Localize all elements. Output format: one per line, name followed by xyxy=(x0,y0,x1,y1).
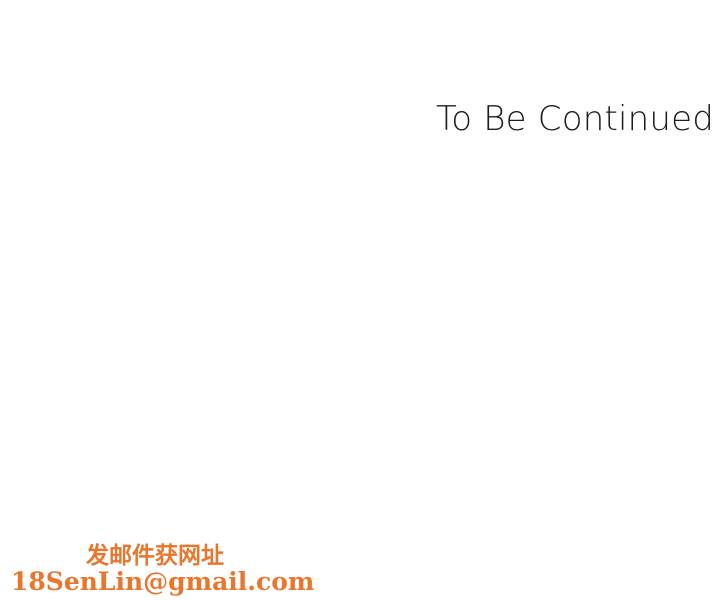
watermark: 发邮件获网址 18SenLin@gmail.com xyxy=(0,538,260,600)
watermark-note-chinese: 发邮件获网址 xyxy=(86,543,224,568)
page-title: To Be Continued xyxy=(436,99,714,140)
watermark-email-address: 18SenLin@gmail.com xyxy=(11,567,314,596)
slide-canvas: To Be Continued 发邮件获网址 18SenLin@gmail.co… xyxy=(0,0,720,600)
